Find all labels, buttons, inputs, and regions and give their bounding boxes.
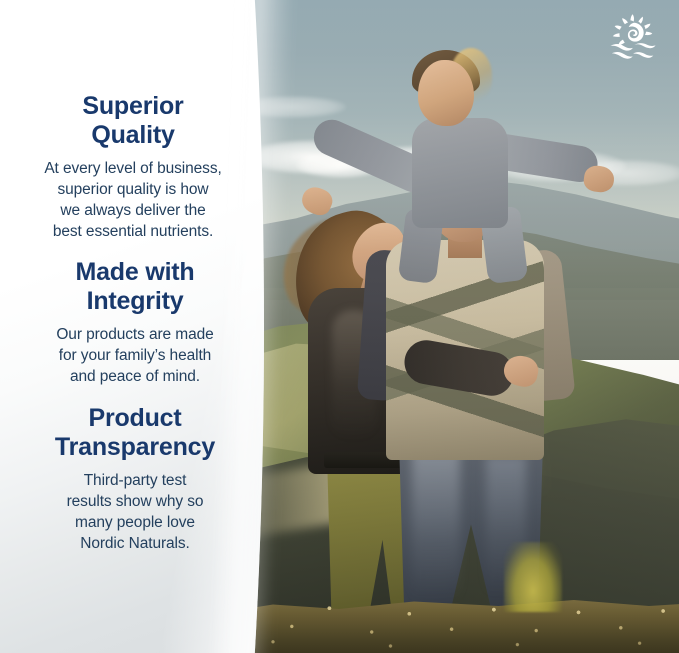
value-block-superior-quality: Superior Quality At every level of busin…: [8, 92, 258, 243]
heading-line: Superior: [82, 92, 183, 120]
heading-line: Made with: [75, 258, 194, 286]
value-block-made-with-integrity: Made with Integrity Our products are mad…: [10, 258, 260, 388]
photo-gravel-texture: [236, 590, 679, 653]
body-line: Third-party test: [84, 472, 187, 489]
value-block-heading: Superior Quality: [8, 92, 258, 149]
heading-line: Transparency: [55, 433, 215, 461]
photo-child-face: [418, 60, 474, 126]
value-block-body: At every level of business, superior qua…: [8, 159, 258, 243]
photo-shrub: [504, 542, 562, 612]
body-line: Nordic Naturals.: [80, 535, 190, 552]
body-line: Our products are made: [56, 326, 213, 343]
body-line: many people love: [75, 514, 195, 531]
value-block-body: Third-party test results show why so man…: [10, 471, 260, 555]
family-lifestyle-photo: [236, 0, 679, 653]
body-line: results show why so: [67, 493, 204, 510]
body-line: superior quality is how: [57, 181, 208, 198]
photo-man-jeans-highlight: [412, 450, 460, 600]
value-block-heading: Product Transparency: [10, 404, 260, 461]
body-line: At every level of business,: [44, 160, 221, 177]
heading-line: Integrity: [87, 287, 184, 315]
value-proposition-list: Superior Quality At every level of busin…: [0, 0, 268, 653]
value-block-body: Our products are made for your family’s …: [10, 325, 260, 388]
heading-line: Quality: [91, 121, 174, 149]
heading-line: Product: [88, 404, 181, 432]
value-block-heading: Made with Integrity: [10, 258, 260, 315]
value-block-product-transparency: Product Transparency Third-party test re…: [10, 404, 260, 555]
body-line: we always deliver the: [60, 202, 205, 219]
body-line: and peace of mind.: [70, 368, 200, 385]
sun-over-waves-logo-icon: [601, 12, 663, 62]
body-line: best essential nutrients.: [53, 223, 213, 240]
body-line: for your family’s health: [59, 347, 211, 364]
photo-child-body: [412, 118, 508, 228]
nordic-naturals-brand-banner: Superior Quality At every level of busin…: [0, 0, 679, 653]
